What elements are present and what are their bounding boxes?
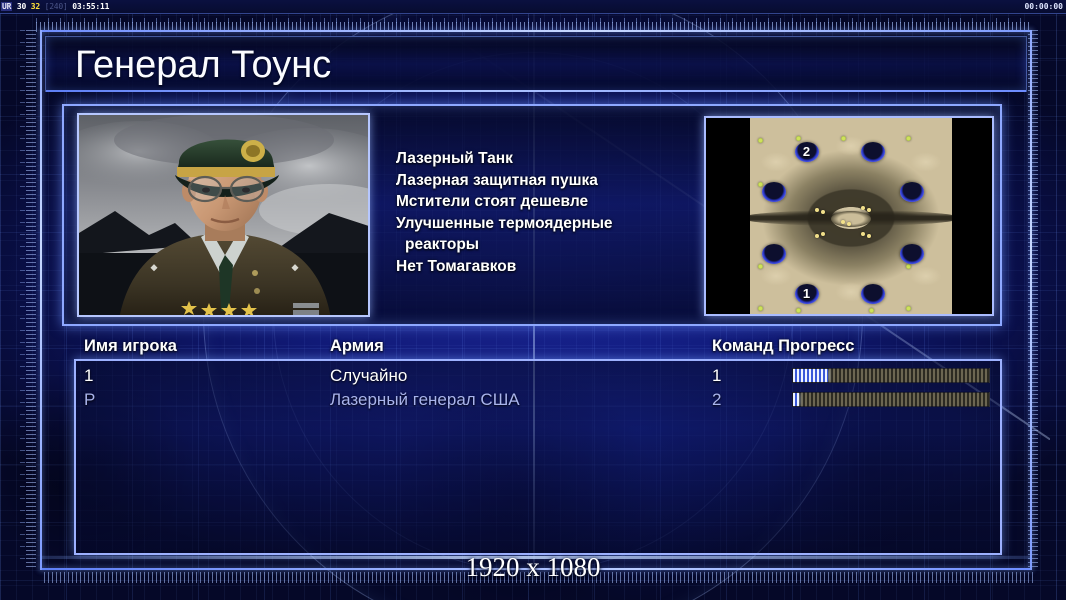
map-start-position[interactable] — [900, 182, 924, 202]
map-oil-derrick-icon — [821, 232, 825, 236]
cell-army[interactable]: Случайно — [330, 364, 407, 388]
debug-value-1: 30 — [17, 2, 26, 11]
map-oil-derrick-icon — [841, 220, 845, 224]
cell-player-name[interactable]: 1 — [84, 364, 93, 388]
cell-team[interactable]: 1 — [712, 364, 721, 388]
progress-bar-fill — [793, 393, 799, 406]
map-center-feature — [831, 211, 871, 227]
table-row[interactable]: 1 Случайно 1 — [74, 364, 1002, 388]
general-portrait-frame — [77, 113, 370, 317]
column-header-army: Армия — [330, 336, 384, 358]
ability-item: Лазерная защитная пушка — [396, 170, 696, 192]
progress-bar-fill — [793, 369, 828, 382]
table-row[interactable]: P Лазерный генерал США 2 — [74, 388, 1002, 412]
map-oil-derrick-icon — [847, 222, 851, 226]
portrait-artwork — [79, 115, 368, 315]
debug-label: UR — [1, 2, 12, 11]
ability-item: Улучшенные термоядерные — [396, 213, 696, 235]
ruler-left-coarse-decoration — [20, 30, 25, 570]
frame-top-edge — [40, 30, 1032, 32]
cell-team[interactable]: 2 — [712, 388, 721, 412]
ruler-top-coarse-decoration — [36, 18, 1032, 23]
cell-army[interactable]: Лазерный генерал США — [330, 388, 520, 412]
map-preview[interactable]: 21 — [704, 116, 994, 316]
map-start-position-1[interactable]: 1 — [795, 284, 819, 304]
debug-status-bar: UR 30 32 [240] 03:55:11 00:00:00 — [0, 0, 1066, 14]
map-oil-derrick-icon — [821, 210, 825, 214]
debug-clock: 03:55:11 — [72, 2, 109, 11]
general-towns-portrait — [79, 115, 368, 315]
resolution-label: 1920 x 1080 — [0, 550, 1066, 584]
debug-value-2: 32 — [31, 2, 40, 11]
page-title: Генерал Тоунс — [75, 38, 331, 92]
map-start-position[interactable] — [900, 244, 924, 264]
game-screen: UR 30 32 [240] 03:55:11 00:00:00 Генерал… — [0, 0, 1066, 600]
column-header-team-progress: Команд Прогресс — [712, 336, 854, 358]
frame-right-edge — [1030, 30, 1032, 570]
map-oil-derrick-icon — [815, 234, 819, 238]
ability-item: Нет Томагавков — [396, 256, 696, 278]
map-oil-derrick-icon — [815, 208, 819, 212]
column-header-player-name: Имя игрока — [84, 336, 177, 358]
map-supply-dock-icon — [906, 306, 911, 311]
ruler-left-decoration — [26, 30, 36, 570]
map-preview-image: 21 — [750, 118, 952, 316]
progress-bar — [792, 368, 990, 383]
map-start-position-2[interactable]: 2 — [795, 142, 819, 162]
player-table-header: Имя игрока Армия Команд Прогресс — [62, 336, 1002, 358]
map-supply-dock-icon — [906, 264, 911, 269]
progress-bar — [792, 392, 990, 407]
map-supply-dock-icon — [906, 136, 911, 141]
match-timer: 00:00:00 — [1024, 0, 1063, 13]
ability-item-continuation: реакторы — [396, 234, 696, 256]
frame-left-edge — [40, 30, 42, 570]
ability-item: Лазерный Танк — [396, 148, 696, 170]
cell-player-name[interactable]: P — [84, 388, 95, 412]
debug-bracket-value: [240] — [45, 2, 68, 11]
ability-item: Мстители стоят дешевле — [396, 191, 696, 213]
general-abilities-list: Лазерный Танк Лазерная защитная пушка Мс… — [396, 148, 696, 277]
map-supply-dock-icon — [841, 136, 846, 141]
debug-stats-left: UR 30 32 [240] 03:55:11 — [1, 0, 109, 13]
